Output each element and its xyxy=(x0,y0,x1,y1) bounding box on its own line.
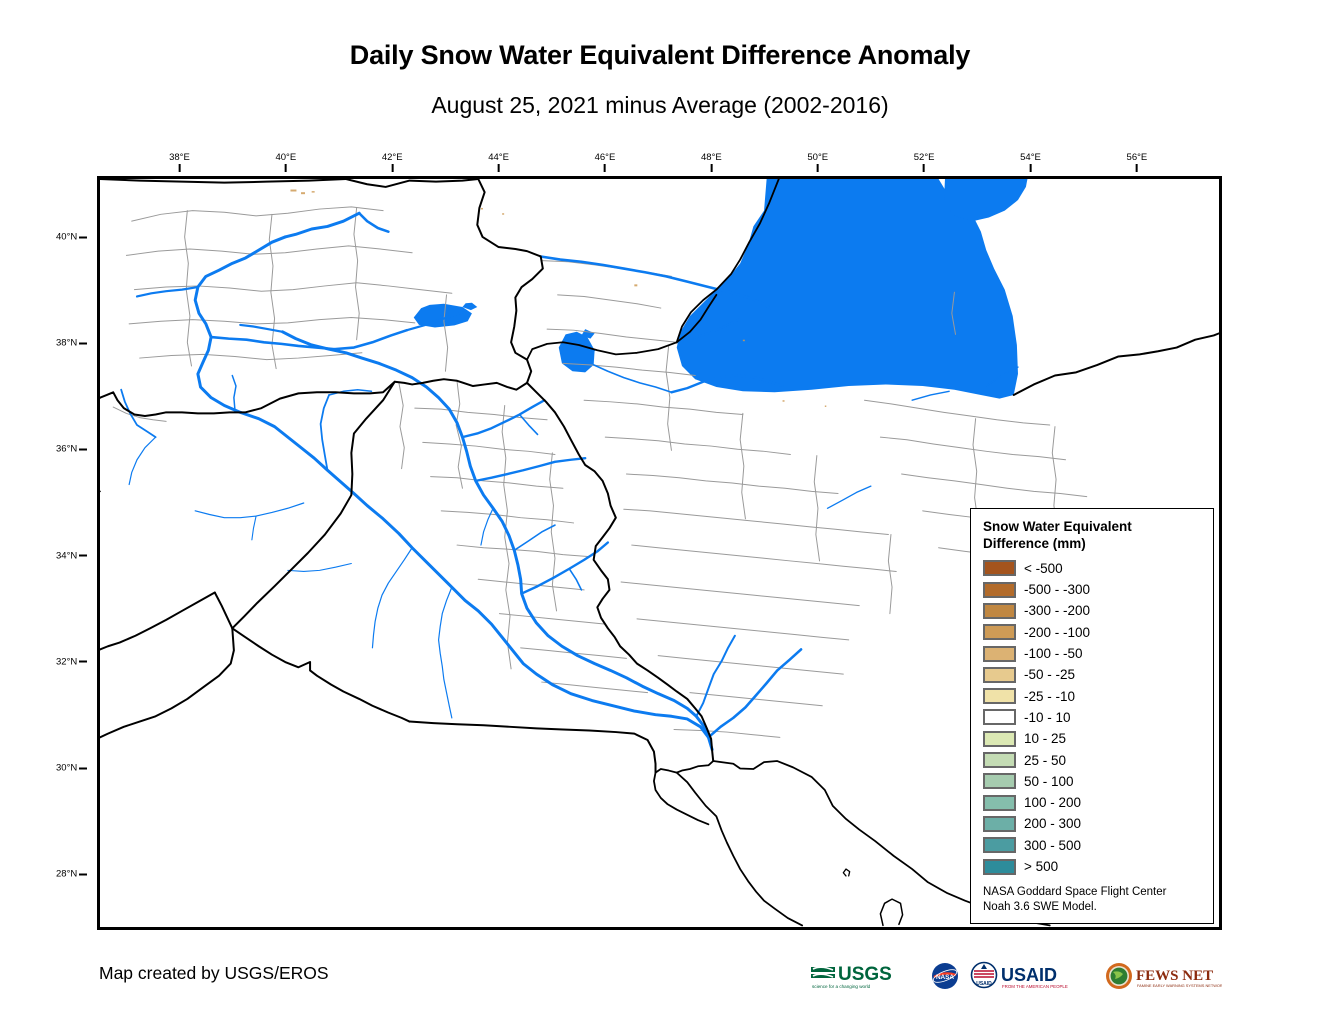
latitude-tick-label: 40°N xyxy=(56,232,77,243)
euphrates-headwater-east xyxy=(359,213,388,231)
swe-anomaly-pixel-4 xyxy=(502,213,504,214)
swe-anomaly-pixel-7 xyxy=(783,400,785,401)
legend-color-swatch xyxy=(983,560,1016,576)
page-subtitle: August 25, 2021 minus Average (2002-2016… xyxy=(0,92,1320,119)
admin-boundary-26 xyxy=(888,535,892,614)
iran-iraq-border xyxy=(527,383,713,761)
latitude-tick-label: 30°N xyxy=(56,763,77,774)
iran-turkmenistan-border xyxy=(1014,333,1219,395)
page-title: Daily Snow Water Equivalent Difference A… xyxy=(0,40,1320,71)
admin-boundary-17 xyxy=(632,545,896,571)
legend-color-swatch xyxy=(983,709,1016,725)
longitude-tick-mark xyxy=(817,164,819,172)
longitude-tick-label: 52°E xyxy=(914,152,935,163)
euphrates-upper-north xyxy=(285,213,359,237)
longitude-tick-mark xyxy=(1136,164,1138,172)
legend-color-swatch xyxy=(983,731,1016,747)
turkey-georgia-border xyxy=(346,179,478,187)
longitude-tick-mark xyxy=(923,164,925,172)
lesser-zab-river xyxy=(476,458,586,481)
syria-jordan-border xyxy=(100,592,215,649)
caspian-sea-northeast-bay xyxy=(944,179,1028,221)
longitude-tick-mark xyxy=(1029,164,1031,172)
admin-boundary-6 xyxy=(269,214,276,368)
latitude-tick-label: 38°N xyxy=(56,338,77,349)
longitude-tick-mark xyxy=(391,164,393,172)
longitude-tick-label: 40°E xyxy=(275,152,296,163)
legend-item-label: -500 - -300 xyxy=(1024,582,1090,597)
fews-net-logo[interactable]: FEWS NET FAMINE EARLY WARNING SYSTEMS NE… xyxy=(1104,961,1222,991)
legend-color-swatch xyxy=(983,624,1016,640)
longitude-tick-mark xyxy=(604,164,606,172)
legend-item: -200 - -100 xyxy=(983,622,1203,643)
legend-color-swatch xyxy=(983,582,1016,598)
longitude-tick-label: 46°E xyxy=(595,152,616,163)
longitude-tick: 42°E xyxy=(382,152,403,172)
legend-item: < -500 xyxy=(983,558,1203,579)
legend-item: 100 - 200 xyxy=(983,792,1203,813)
svg-text:FAMINE EARLY WARNING SYSTEMS N: FAMINE EARLY WARNING SYSTEMS NETWORK xyxy=(1137,983,1222,988)
latitude-tick-label: 28°N xyxy=(56,869,77,880)
caspian-south-stream xyxy=(912,391,949,400)
diyala-tributary xyxy=(569,569,581,590)
legend-item-label: 10 - 25 xyxy=(1024,731,1066,746)
legend-item-label: -200 - -100 xyxy=(1024,625,1090,640)
iran-central-stream xyxy=(827,486,870,508)
longitude-tick-label: 50°E xyxy=(807,152,828,163)
swe-anomaly-pixel-6 xyxy=(743,340,745,341)
legend-item: -50 - -25 xyxy=(983,664,1203,685)
wadi-central-iraq xyxy=(439,587,452,718)
admin-boundary-15 xyxy=(626,474,838,493)
legend-item-label: -300 - -200 xyxy=(1024,603,1090,618)
usaid-logo[interactable]: USAID USAID FROM THE AMERICAN PEOPLE xyxy=(969,961,1095,991)
latitude-tick: 34°N xyxy=(56,550,87,561)
legend-item-label: 300 - 500 xyxy=(1024,838,1081,853)
legend-color-swatch xyxy=(983,603,1016,619)
longitude-tick: 56°E xyxy=(1127,152,1148,172)
legend-color-swatch xyxy=(983,837,1016,853)
tigris-headwater xyxy=(240,325,282,332)
svg-text:FROM THE AMERICAN PEOPLE: FROM THE AMERICAN PEOPLE xyxy=(1002,984,1068,989)
latitude-tick-label: 34°N xyxy=(56,550,77,561)
admin-boundary-30 xyxy=(902,474,1087,497)
orontes-river xyxy=(129,437,155,484)
longitude-tick-label: 48°E xyxy=(701,152,722,163)
legend-item-label: -50 - -25 xyxy=(1024,667,1075,682)
admin-boundary-19 xyxy=(637,619,849,640)
nasa-logo[interactable]: NASA xyxy=(930,961,960,991)
svg-text:USAID: USAID xyxy=(1001,965,1057,985)
legend-item-label: > 500 xyxy=(1024,859,1058,874)
svg-text:USAID: USAID xyxy=(976,981,992,987)
latitude-tick: 30°N xyxy=(56,763,87,774)
legend-item: 50 - 100 xyxy=(983,771,1203,792)
longitude-tick-label: 56°E xyxy=(1127,152,1148,163)
svg-text:USGS: USGS xyxy=(838,964,892,985)
latitude-tick-mark xyxy=(79,448,87,450)
legend-item: > 500 xyxy=(983,856,1203,877)
legend-item: -10 - 10 xyxy=(983,707,1203,728)
qatar-peninsula xyxy=(880,899,902,925)
admin-boundary-23 xyxy=(666,345,671,450)
legend-item-label: 25 - 50 xyxy=(1024,753,1066,768)
legend-item-label: < -500 xyxy=(1024,561,1063,576)
syrian-desert-wadi-branch xyxy=(252,516,256,540)
map-credit: Map created by USGS/EROS xyxy=(99,963,329,984)
admin-boundary-2 xyxy=(134,283,451,294)
longitude-tick-mark xyxy=(178,164,180,172)
legend-color-swatch xyxy=(983,816,1016,832)
latitude-tick-mark xyxy=(79,342,87,344)
swe-anomaly-pixel-2 xyxy=(312,191,315,192)
longitude-tick: 40°E xyxy=(275,152,296,172)
admin-boundary-16 xyxy=(624,509,889,534)
turkey-black-sea-coast xyxy=(100,179,346,183)
admin-boundary-1 xyxy=(126,246,412,256)
jordan-saudi-border xyxy=(100,628,234,737)
swe-anomaly-pixel-5 xyxy=(634,284,637,286)
legend-item-label: 100 - 200 xyxy=(1024,795,1081,810)
longitude-tick-label: 54°E xyxy=(1020,152,1041,163)
legend-item-label: -10 - 10 xyxy=(1024,710,1071,725)
persian-gulf-south-coast xyxy=(677,761,802,925)
longitude-tick: 50°E xyxy=(807,152,828,172)
admin-boundary-18 xyxy=(621,582,859,606)
swe-anomaly-pixel-8 xyxy=(825,405,826,406)
admin-boundary-7 xyxy=(354,208,359,340)
longitude-tick-label: 38°E xyxy=(169,152,190,163)
latitude-tick: 40°N xyxy=(56,232,87,243)
latitude-tick-mark xyxy=(79,236,87,238)
map-legend: Snow Water Equivalent Difference (mm) < … xyxy=(970,508,1214,924)
legend-color-swatch xyxy=(983,667,1016,683)
longitude-tick: 48°E xyxy=(701,152,722,172)
turkey-southern-border xyxy=(100,179,543,416)
admin-boundary-4 xyxy=(140,353,362,360)
legend-item: -300 - -200 xyxy=(983,600,1203,621)
bahrain-island xyxy=(843,869,849,876)
agency-logo-bar: USGS science for a changing world NASA U… xyxy=(809,957,1222,995)
iraq-saudi-south-border xyxy=(410,722,656,773)
lake-van xyxy=(414,304,472,328)
syrian-desert-wadi xyxy=(195,503,304,518)
legend-source-note: NASA Goddard Space Flight Center Noah 3.… xyxy=(983,885,1203,914)
legend-color-swatch xyxy=(983,773,1016,789)
adhaim-river xyxy=(514,525,555,550)
legend-item: -25 - -10 xyxy=(983,686,1203,707)
swe-anomaly-pixel-0 xyxy=(290,190,296,192)
legend-item: 300 - 500 xyxy=(983,835,1203,856)
longitude-tick: 46°E xyxy=(595,152,616,172)
latitude-tick: 28°N xyxy=(56,869,87,880)
longitude-tick: 44°E xyxy=(488,152,509,172)
longitude-tick: 52°E xyxy=(914,152,935,172)
longitude-tick-label: 44°E xyxy=(488,152,509,163)
admin-boundary-24 xyxy=(740,413,745,518)
admin-boundary-40 xyxy=(431,477,563,489)
swe-anomaly-pixel-3 xyxy=(481,208,483,209)
svg-text:NASA: NASA xyxy=(936,974,954,981)
legend-item-label: -100 - -50 xyxy=(1024,646,1083,661)
latitude-tick-mark xyxy=(79,767,87,769)
admin-boundary-39 xyxy=(423,442,555,454)
latitude-tick: 38°N xyxy=(56,338,87,349)
karkheh-river xyxy=(696,636,735,717)
legend-color-swatch xyxy=(983,752,1016,768)
admin-boundary-3 xyxy=(129,317,415,323)
admin-boundary-36 xyxy=(399,383,404,469)
svg-text:FEWS NET: FEWS NET xyxy=(1136,968,1213,984)
swe-anomaly-pixel-1 xyxy=(301,192,305,194)
legend-item: -500 - -300 xyxy=(983,579,1203,600)
legend-class-list: < -500-500 - -300-300 - -200-200 - -100-… xyxy=(983,558,1203,877)
iraq-jordan-saudi-border xyxy=(232,628,409,721)
balikh-river xyxy=(232,376,236,410)
khabur-river xyxy=(321,395,329,470)
legend-item-label: -25 - -10 xyxy=(1024,689,1075,704)
legend-item: 200 - 300 xyxy=(983,813,1203,834)
admin-boundary-25 xyxy=(814,456,819,561)
longitude-tick-mark xyxy=(498,164,500,172)
legend-color-swatch xyxy=(983,646,1016,662)
longitude-tick-mark xyxy=(285,164,287,172)
latitude-tick-mark xyxy=(79,873,87,875)
murat-river-upper xyxy=(334,330,407,349)
longitude-tick: 54°E xyxy=(1020,152,1041,172)
legend-item: -100 - -50 xyxy=(983,643,1203,664)
greater-zab-tributary xyxy=(520,415,538,435)
admin-boundary-44 xyxy=(499,614,605,625)
longitude-tick: 38°E xyxy=(169,152,190,172)
latitude-tick: 32°N xyxy=(56,656,87,667)
latitude-tick-label: 32°N xyxy=(56,656,77,667)
admin-boundary-42 xyxy=(457,545,589,557)
usgs-logo[interactable]: USGS science for a changing world xyxy=(809,961,921,991)
legend-item-label: 200 - 300 xyxy=(1024,816,1081,831)
latitude-tick-label: 36°N xyxy=(56,444,77,455)
admin-boundary-10 xyxy=(558,295,661,308)
legend-item: 25 - 50 xyxy=(983,749,1203,770)
latitude-tick-mark xyxy=(79,661,87,663)
wadi-hauran xyxy=(372,548,412,648)
svg-text:science for a changing world: science for a changing world xyxy=(812,984,871,989)
legend-title: Snow Water Equivalent Difference (mm) xyxy=(983,519,1203,553)
latitude-tick-mark xyxy=(79,555,87,557)
admin-boundary-20 xyxy=(658,656,843,674)
legend-color-swatch xyxy=(983,859,1016,875)
admin-boundary-22 xyxy=(674,729,780,737)
admin-boundary-14 xyxy=(605,437,790,454)
caspian-median-line-south xyxy=(527,342,677,359)
admin-boundary-28 xyxy=(865,400,1050,425)
legend-item-label: 50 - 100 xyxy=(1024,774,1074,789)
longitude-tick-label: 42°E xyxy=(382,152,403,163)
legend-item: 10 - 25 xyxy=(983,728,1203,749)
legend-color-swatch xyxy=(983,688,1016,704)
latitude-tick: 36°N xyxy=(56,444,87,455)
longitude-tick-mark xyxy=(710,164,712,172)
admin-boundary-13 xyxy=(584,400,743,414)
legend-color-swatch xyxy=(983,795,1016,811)
